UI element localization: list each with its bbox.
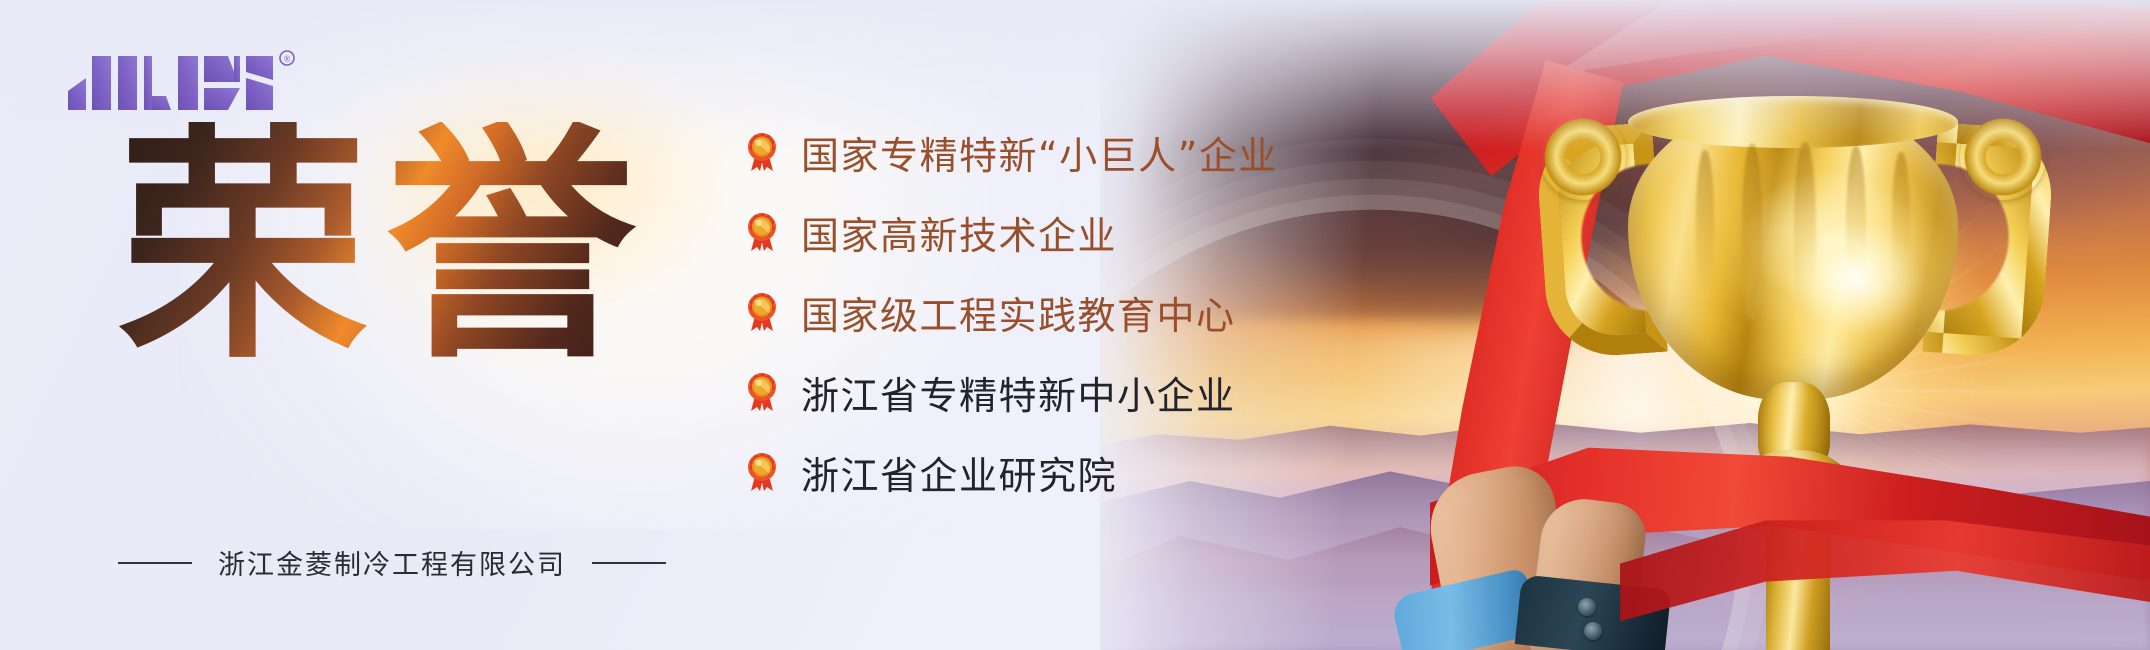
trophy-highlight [1746,174,1982,374]
list-item[interactable]: 国家高新技术企业 [745,192,1278,272]
trophy-rim [1628,96,1958,148]
award-rosette-icon [745,212,779,252]
list-item[interactable]: 浙江省企业研究院 [745,432,1278,512]
trophy-flute [1696,150,1714,300]
honor-label: 浙江省专精特新中小企业 [801,365,1236,420]
award-rosette-icon [745,292,779,332]
award-rosette-icon [745,452,779,492]
company-name-block: 浙江金菱制冷工程有限公司 [118,543,666,582]
honor-banner: ® 荣誉 浙江金菱制冷工程有限公司 [0,0,2150,650]
honor-label: 国家高新技术企业 [801,205,1117,260]
page-title: 荣誉 [118,122,654,372]
rule-right [592,562,666,564]
honor-label: 国家专精特新“小巨人”企业 [801,125,1278,180]
sleeve-button [1584,622,1602,640]
honor-label: 国家级工程实践教育中心 [801,285,1236,340]
list-item[interactable]: 国家专精特新“小巨人”企业 [745,112,1278,192]
trophy-handle-curl-left [1540,114,1626,200]
company-name: 浙江金菱制冷工程有限公司 [218,543,566,582]
award-rosette-icon [745,132,779,172]
honor-list: 国家专精特新“小巨人”企业 国家高新技术企业 [745,112,1278,512]
rule-left [118,562,192,564]
sleeve-button [1578,598,1596,616]
award-rosette-icon [745,372,779,412]
list-item[interactable]: 国家级工程实践教育中心 [745,272,1278,352]
list-item[interactable]: 浙江省专精特新中小企业 [745,352,1278,432]
honor-label: 浙江省企业研究院 [801,445,1117,500]
registered-mark: ® [284,54,291,64]
